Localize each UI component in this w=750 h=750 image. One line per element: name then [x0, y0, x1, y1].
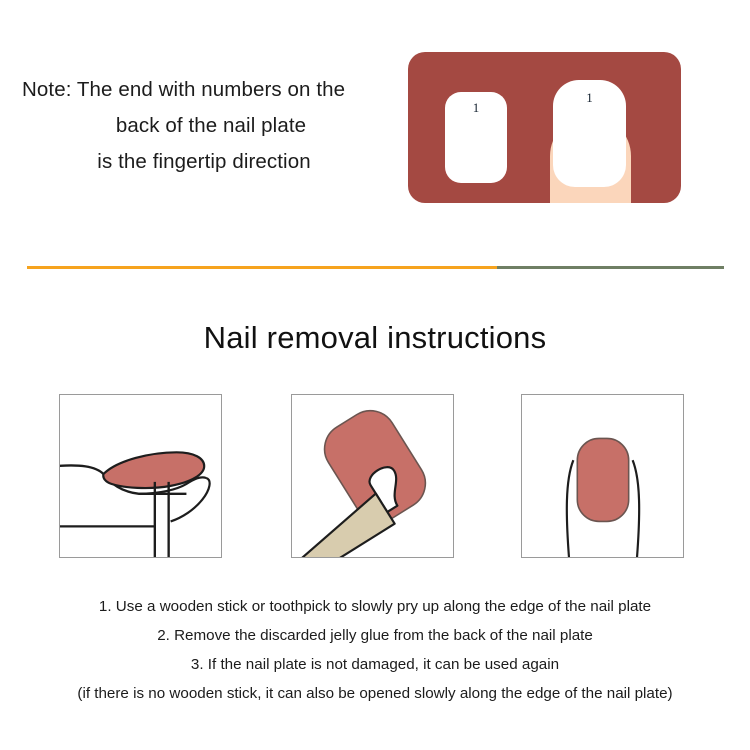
- instruction-line-3: 3. If the nail plate is not damaged, it …: [0, 650, 750, 679]
- instruction-line-1: 1. Use a wooden stick or toothpick to sl…: [0, 592, 750, 621]
- note-line-3: is the fingertip direction: [10, 144, 390, 180]
- instruction-line-4: (if there is no wooden stick, it can als…: [0, 679, 750, 708]
- section-divider: [27, 266, 724, 269]
- note-line-1: Note: The end with numbers on the: [10, 72, 390, 108]
- instruction-panels: [0, 394, 750, 559]
- instruction-caption-list: 1. Use a wooden stick or toothpick to sl…: [0, 592, 750, 708]
- instruction-line-2: 2. Remove the discarded jelly glue from …: [0, 621, 750, 650]
- reusable-nail-illustration: [522, 395, 683, 557]
- nail-sticker-on-finger: 1: [553, 80, 626, 187]
- nail-sticker-back: 1: [445, 92, 507, 183]
- nail-plate-illustration: 1 1: [408, 52, 681, 203]
- nail-number-label: 1: [445, 100, 507, 116]
- panel-reuse-nail-plate: [521, 394, 684, 558]
- panel-pry-up-nail-plate: [59, 394, 222, 558]
- divider-segment-green: [497, 266, 724, 269]
- page-title: Nail removal instructions: [0, 320, 750, 356]
- pry-up-illustration: [60, 395, 221, 557]
- panel-remove-jelly-glue: [291, 394, 454, 558]
- divider-segment-orange: [27, 266, 497, 269]
- nail-number-label: 1: [553, 90, 626, 106]
- note-text-block: Note: The end with numbers on the back o…: [10, 72, 390, 180]
- remove-glue-illustration: [292, 395, 453, 557]
- note-section: Note: The end with numbers on the back o…: [0, 0, 750, 250]
- note-line-2: back of the nail plate: [10, 108, 390, 144]
